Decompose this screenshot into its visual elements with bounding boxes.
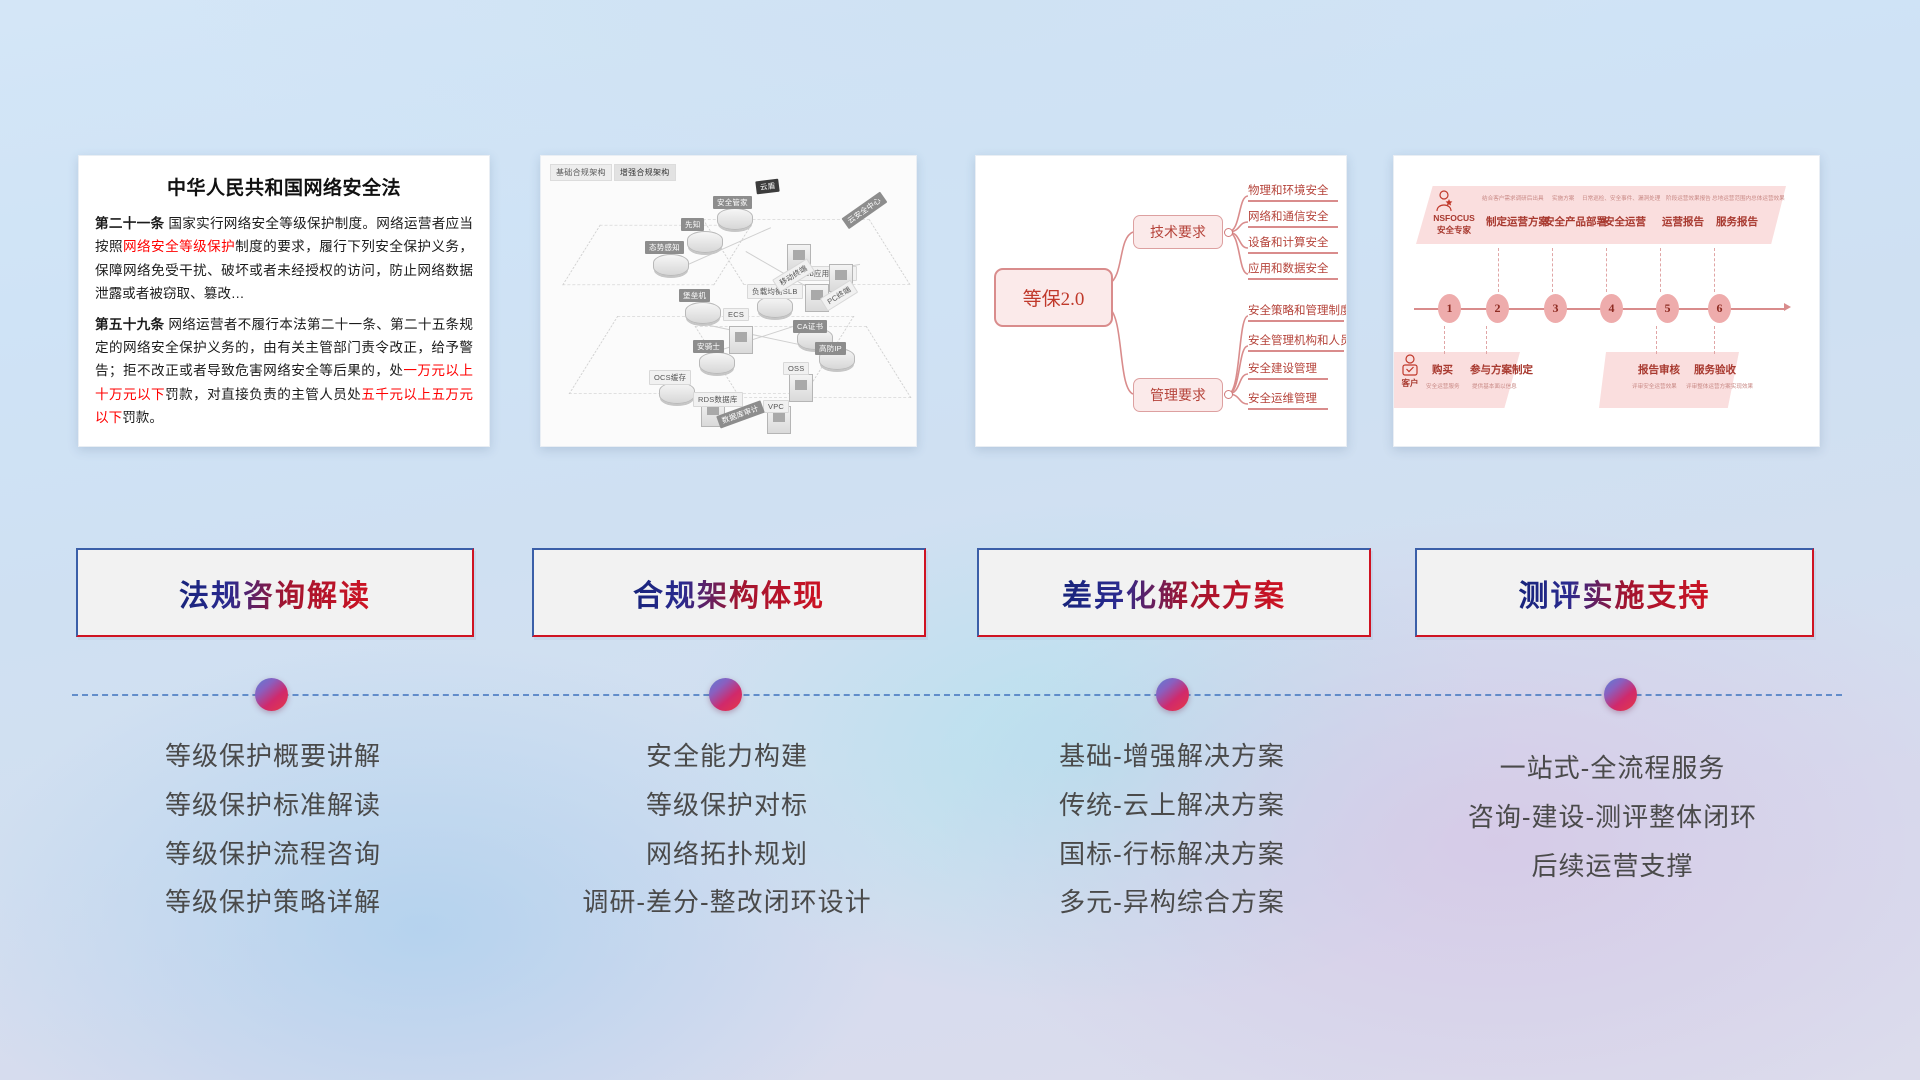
node-slb <box>757 296 793 318</box>
timeline-tick <box>1552 248 1553 292</box>
timeline-top-sub-1: 结合客户需求调研后出具 <box>1482 194 1544 202</box>
banner-differentiated-solution[interactable]: 差异化解决方案 <box>977 548 1371 637</box>
mindmap-collapse-dot-technical[interactable] <box>1224 228 1233 237</box>
banner-label-2: 合规架构体现 <box>633 571 825 615</box>
progress-dashed-line <box>72 694 1842 696</box>
node-label-cloud-shield: 云盾 <box>755 179 780 195</box>
tab-enhanced-architecture[interactable]: 增强合规架构 <box>614 164 676 181</box>
node-label-security-butler: 安全管家 <box>713 196 752 209</box>
timeline-bottom-sub-3: 评审安全运营效果 <box>1632 382 1677 390</box>
node-label-anqishi: 安骑士 <box>693 340 724 353</box>
node-label-xianzhi: 先知 <box>681 218 704 231</box>
timeline-tick <box>1660 248 1661 292</box>
column-regulation-consulting: 等级保护概要讲解 等级保护标准解读 等级保护流程咨询 等级保护策略详解 <box>76 740 470 935</box>
node-situation-awareness <box>653 254 689 276</box>
law-card-title: 中华人民共和国网络安全法 <box>95 173 473 200</box>
banner-label-4: 测评实施支持 <box>1519 571 1711 615</box>
banner-label-3: 差异化解决方案 <box>1062 571 1286 615</box>
law-article-59-text-b: 罚款，对直接负责的主管人员处 <box>165 387 361 402</box>
law-article-21: 第二十一条 国家实行网络安全等级保护制度。网络运营者应当按照网络安全等级保护制度… <box>95 212 473 306</box>
mindmap-collapse-dot-management[interactable] <box>1224 390 1233 399</box>
timeline-tick <box>1656 326 1657 354</box>
law-article-59-label: 第五十九条 <box>95 317 164 332</box>
mindmap-leaf-policy-system[interactable]: 安全策略和管理制度 <box>1248 302 1344 322</box>
list-item: 多元-异构综合方案 <box>977 886 1367 919</box>
timeline-canvas: NSFOCUS 安全专家 客户 结合客户需求调研后出具 制定运营方案 实施方案 … <box>1394 156 1819 446</box>
list-item: 咨询-建设-测评整体闭环 <box>1415 801 1810 834</box>
architecture-tabs: 基础合规架构 增强合规架构 <box>550 164 676 181</box>
timeline-step-4[interactable]: 4 <box>1600 294 1623 323</box>
timeline-bottom-title-2: 参与方案制定 <box>1470 362 1533 377</box>
list-item: 等级保护标准解读 <box>76 789 470 822</box>
card-architecture-diagram: 基础合规架构 增强合规架构 云盾 云安全中心 安全管家 先知 态势感知 堡 <box>540 155 917 447</box>
timeline-bottom-band-right <box>1599 352 1739 408</box>
mindmap-branch-management[interactable]: 管理要求 <box>1133 378 1223 412</box>
list-item: 等级保护流程咨询 <box>76 838 470 871</box>
law-article-21-highlight: 网络安全等级保护 <box>123 239 235 254</box>
timeline-tick <box>1498 248 1499 292</box>
node-label-ca-cert: CA证书 <box>793 320 827 333</box>
column-differentiated-solution: 基础-增强解决方案 传统-云上解决方案 国标-行标解决方案 多元-异构综合方案 <box>977 740 1367 935</box>
node-label-anti-ddos-ip: 高防IP <box>815 342 846 355</box>
law-article-59: 第五十九条 网络运营者不履行本法第二十一条、第二十五条规定的网络安全保护义务的，… <box>95 313 473 430</box>
card-service-timeline: NSFOCUS 安全专家 客户 结合客户需求调研后出具 制定运营方案 实施方案 … <box>1393 155 1820 447</box>
timeline-arrow-icon <box>1784 303 1791 311</box>
list-item: 国标-行标解决方案 <box>977 838 1367 871</box>
progress-dot-4[interactable] <box>1604 678 1637 711</box>
law-card-body: 中华人民共和国网络安全法 第二十一条 国家实行网络安全等级保护制度。网络运营者应… <box>79 156 489 444</box>
node-label-ecs: ECS <box>723 308 749 321</box>
timeline-bottom-title-3: 报告审核 <box>1638 362 1680 377</box>
timeline-top-title-3: 安全运营 <box>1604 214 1646 229</box>
list-item: 基础-增强解决方案 <box>977 740 1367 773</box>
timeline-top-title-2: 安全产品部署 <box>1544 214 1607 229</box>
timeline-top-title-5: 服务报告 <box>1716 214 1758 229</box>
timeline-bottom-sub-4: 评审整体运营方案实现效果 <box>1686 382 1753 390</box>
progress-dot-1[interactable] <box>255 678 288 711</box>
mindmap-leaf-network-comm[interactable]: 网络和通信安全 <box>1248 208 1338 228</box>
mindmap-branch-technical[interactable]: 技术要求 <box>1133 215 1223 249</box>
list-item: 传统-云上解决方案 <box>977 789 1367 822</box>
list-item: 调研-差分-整改闭环设计 <box>532 886 922 919</box>
mindmap-leaf-app-data[interactable]: 应用和数据安全 <box>1248 260 1338 280</box>
law-article-21-label: 第二十一条 <box>95 216 164 231</box>
timeline-top-sub-4: 阶段运营效果报告 <box>1666 194 1711 202</box>
node-label-oss: OSS <box>783 362 809 375</box>
mindmap-leaf-device-compute[interactable]: 设备和计算安全 <box>1248 234 1338 254</box>
timeline-bottom-title-1: 购买 <box>1432 362 1453 377</box>
law-article-59-text-c: 罚款。 <box>122 410 163 425</box>
list-item: 网络拓扑规划 <box>532 838 922 871</box>
column-compliance-architecture: 安全能力构建 等级保护对标 网络拓扑规划 调研-差分-整改闭环设计 <box>532 740 922 935</box>
timeline-tick <box>1444 326 1445 354</box>
mindmap-leaf-ops-mgmt[interactable]: 安全运维管理 <box>1248 390 1328 410</box>
customer-avatar-icon <box>1400 354 1420 376</box>
card-mindmap: 等保2.0 技术要求 物理和环境安全 网络和通信安全 设备和计算安全 应用和数据… <box>975 155 1347 447</box>
timeline-bottom-sub-2: 提供基本面以信息 <box>1472 382 1517 390</box>
timeline-top-title-4: 运营报告 <box>1662 214 1704 229</box>
timeline-step-2[interactable]: 2 <box>1486 294 1509 323</box>
timeline-tick <box>1486 326 1487 354</box>
list-item: 等级保护对标 <box>532 789 922 822</box>
timeline-step-1[interactable]: 1 <box>1438 294 1461 323</box>
timeline-step-3[interactable]: 3 <box>1544 294 1567 323</box>
node-label-bastion-host: 堡垒机 <box>679 289 710 302</box>
timeline-tick <box>1714 248 1715 292</box>
banner-evaluation-support[interactable]: 测评实施支持 <box>1415 548 1814 637</box>
tab-basic-architecture[interactable]: 基础合规架构 <box>550 164 612 181</box>
timeline-top-sub-5: 总地运营范围内总体运营效果 <box>1712 194 1785 202</box>
column-evaluation-support: 一站式-全流程服务 咨询-建设-测评整体闭环 后续运营支撑 <box>1415 752 1810 898</box>
brand-name-label: NSFOCUS <box>1424 213 1484 224</box>
banner-label-1: 法规咨询解读 <box>179 571 371 615</box>
card-law-text: 中华人民共和国网络安全法 第二十一条 国家实行网络安全等级保护制度。网络运营者应… <box>78 155 490 447</box>
timeline-top-sub-2: 实施方案 <box>1552 194 1574 202</box>
timeline-top-title-1: 制定运营方案 <box>1486 214 1549 229</box>
timeline-top-sub-3: 日常巡检、安全事件、漏洞处理 <box>1582 194 1660 202</box>
architecture-canvas: 基础合规架构 增强合规架构 云盾 云安全中心 安全管家 先知 态势感知 堡 <box>541 156 916 446</box>
progress-dot-3[interactable] <box>1156 678 1189 711</box>
mindmap-root-node[interactable]: 等保2.0 <box>994 268 1113 327</box>
banner-regulation-consulting[interactable]: 法规咨询解读 <box>76 548 474 637</box>
node-label-ocs-cache: OCS缓存 <box>649 370 691 385</box>
node-label-vpc: VPC <box>763 400 789 413</box>
timeline-bottom-sub-1: 安全运营服务 <box>1426 382 1460 390</box>
timeline-step-6[interactable]: 6 <box>1708 294 1731 323</box>
list-item: 一站式-全流程服务 <box>1415 752 1810 785</box>
timeline-bottom-title-4: 服务验收 <box>1694 362 1736 377</box>
node-label-slb: 负载均衡SLB <box>747 284 803 299</box>
node-oss <box>789 374 813 402</box>
node-ecs <box>729 326 753 354</box>
node-label-situation-awareness: 态势感知 <box>645 241 684 254</box>
mindmap-canvas: 等保2.0 技术要求 物理和环境安全 网络和通信安全 设备和计算安全 应用和数据… <box>976 156 1346 446</box>
list-item: 等级保护概要讲解 <box>76 740 470 773</box>
list-item: 安全能力构建 <box>532 740 922 773</box>
slide-canvas: 中华人民共和国网络安全法 第二十一条 国家实行网络安全等级保护制度。网络运营者应… <box>0 0 1920 1080</box>
node-ocs-cache <box>659 382 695 404</box>
timeline-tick <box>1714 326 1715 354</box>
list-item: 后续运营支撑 <box>1415 850 1810 883</box>
banner-compliance-architecture[interactable]: 合规架构体现 <box>532 548 926 637</box>
node-xianzhi <box>687 231 723 253</box>
brand-sub-label: 安全专家 <box>1424 225 1484 236</box>
node-security-butler <box>717 208 753 230</box>
node-anqishi <box>699 352 735 374</box>
timeline-step-5[interactable]: 5 <box>1656 294 1679 323</box>
mindmap-leaf-physical-env[interactable]: 物理和环境安全 <box>1248 182 1338 202</box>
customer-label: 客户 <box>1396 378 1424 389</box>
mindmap-leaf-org-personnel[interactable]: 安全管理机构和人员 <box>1248 332 1344 352</box>
list-item: 等级保护策略详解 <box>76 886 470 919</box>
timeline-tick <box>1606 248 1607 292</box>
progress-dot-2[interactable] <box>709 678 742 711</box>
node-label-rds-db: RDS数据库 <box>693 392 743 407</box>
expert-avatar-icon <box>1434 190 1454 212</box>
mindmap-leaf-construction-mgmt[interactable]: 安全建设管理 <box>1248 360 1328 380</box>
node-bastion-host <box>685 302 721 324</box>
